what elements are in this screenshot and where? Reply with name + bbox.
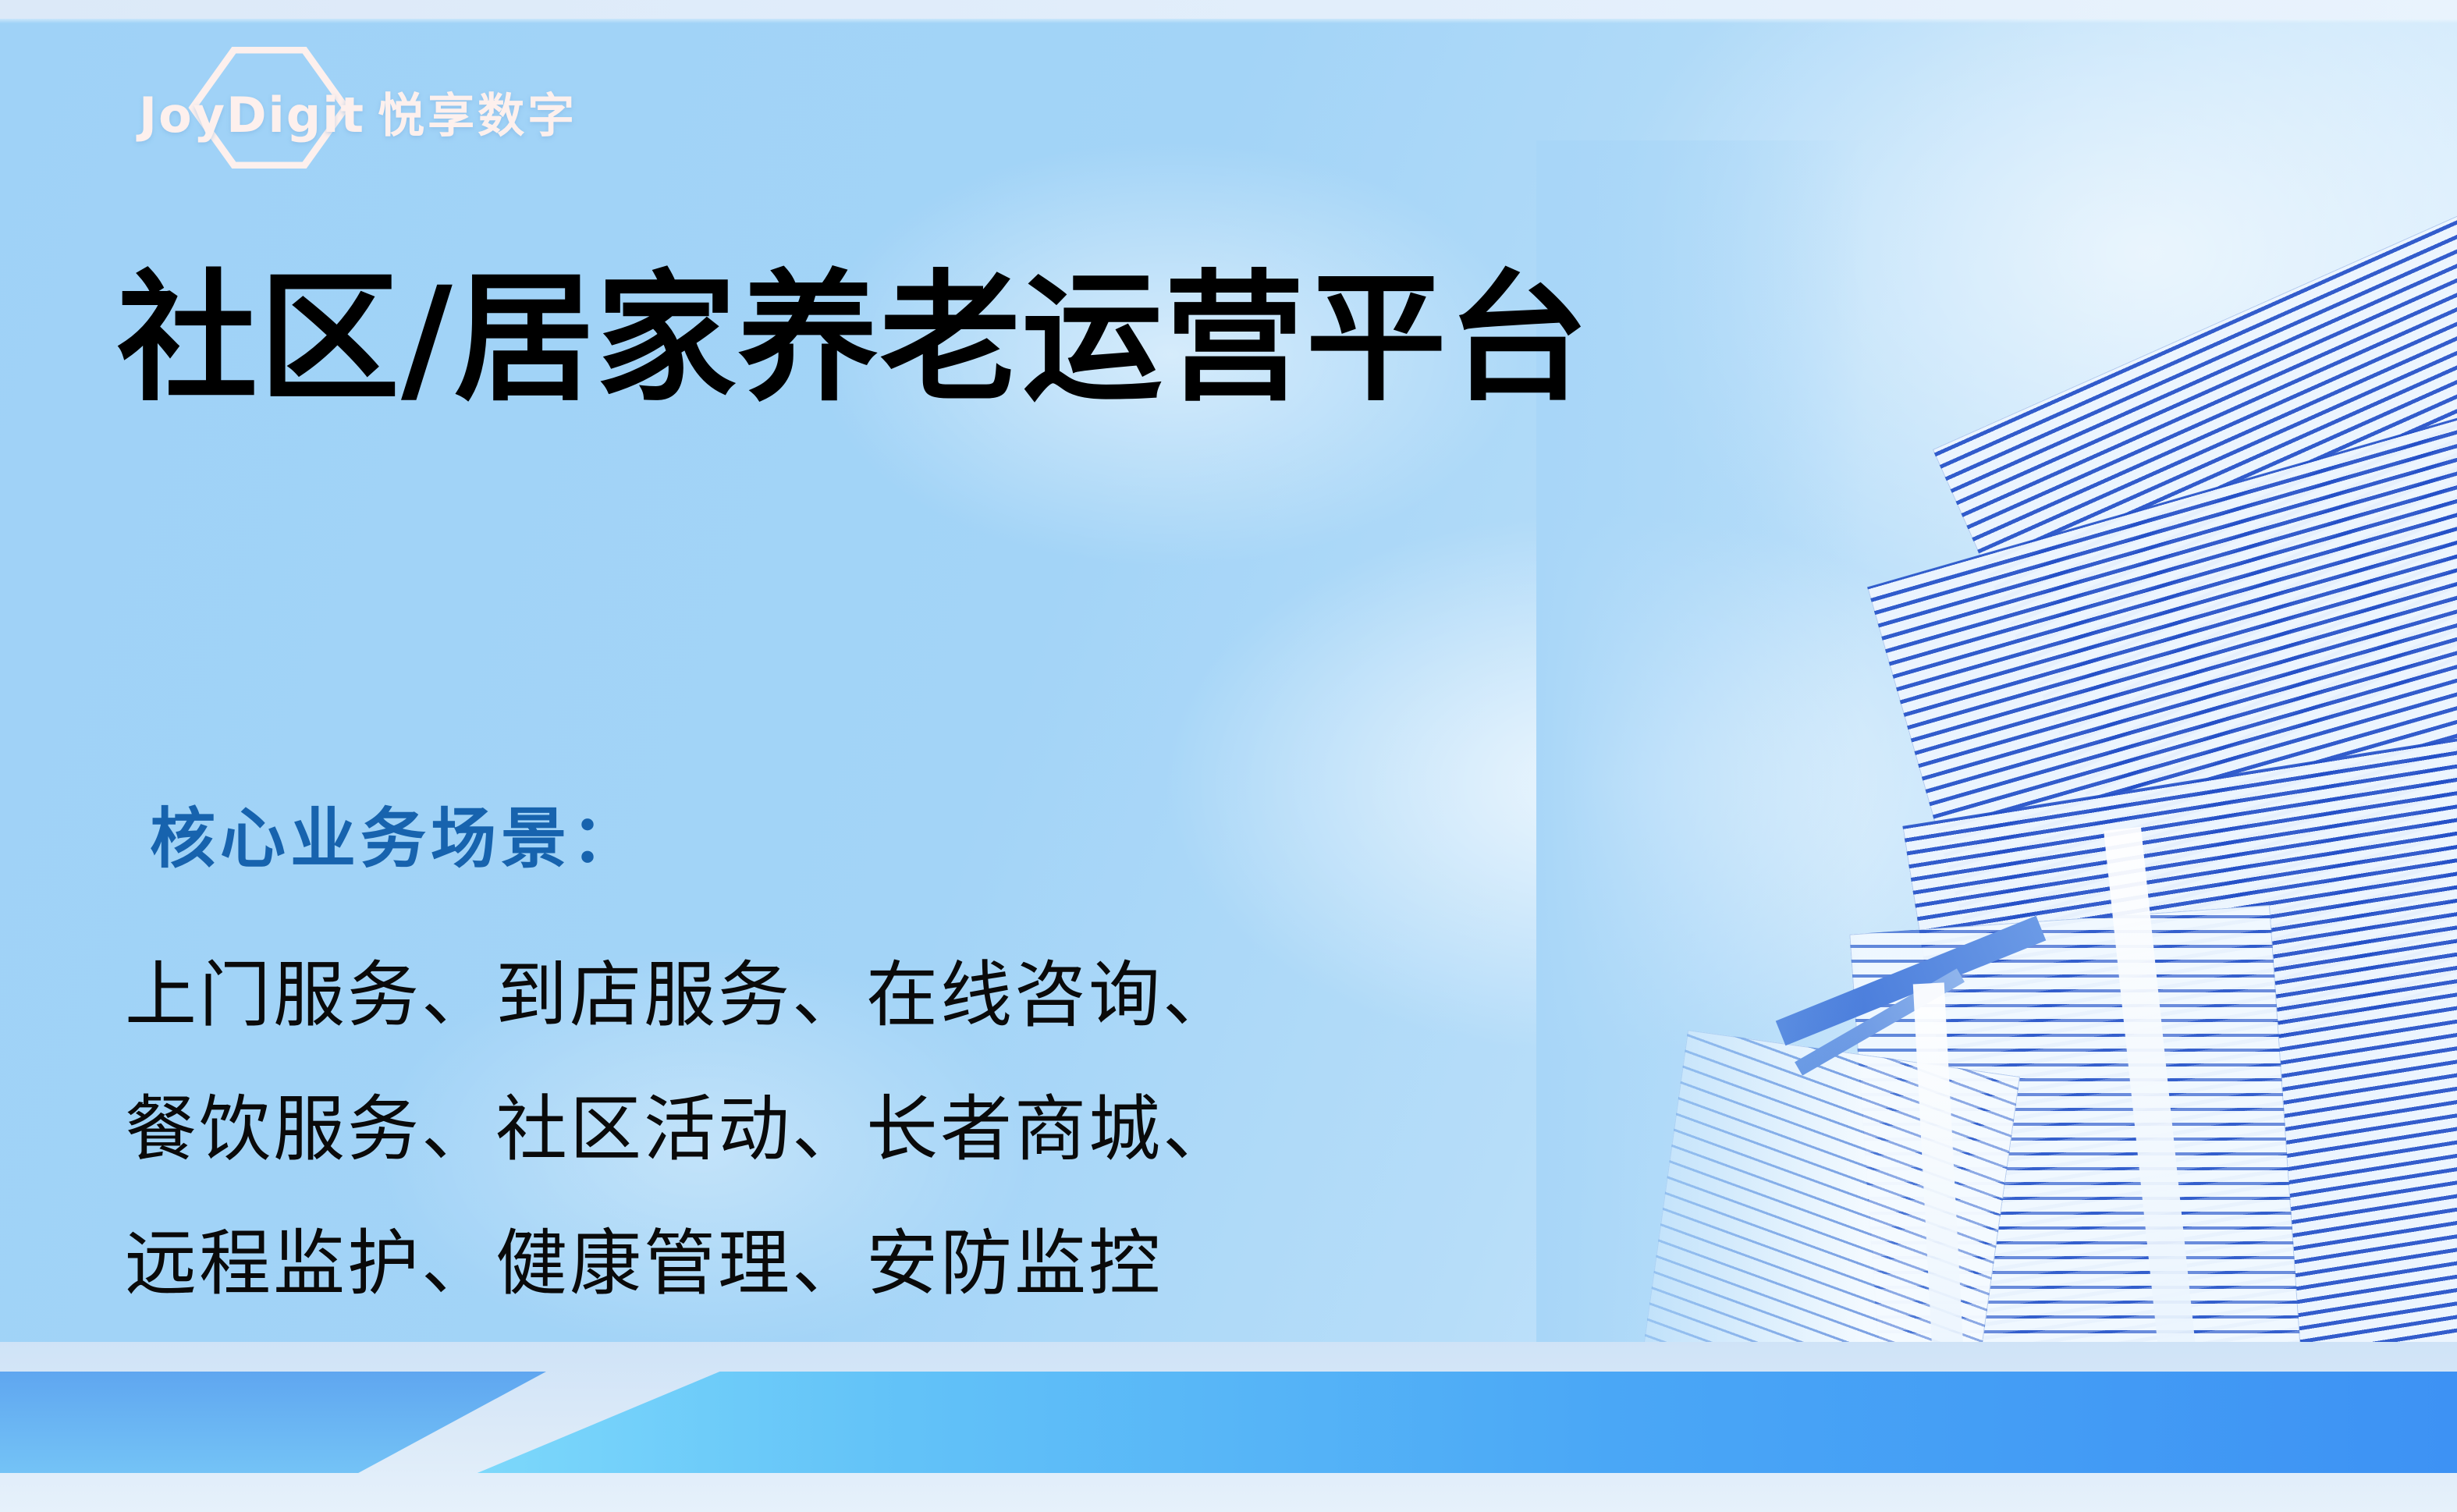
scenario-line: 远程监护、健康管理、安防监控 [125, 1197, 1237, 1331]
brand-wordmark-latin: JoyDigit [139, 87, 365, 144]
top-edge-highlight [0, 19, 2457, 23]
scenario-line: 餐饮服务、社区活动、长者商城、 [125, 1063, 1237, 1197]
skyscraper-photo [1536, 140, 2457, 1358]
brand-wordmark-chinese: 悦享数字 [365, 89, 577, 144]
slide-root: JoyDigit悦享数字 社区/居家养老运营平台 核心业务场景： 上门服务、到店… [0, 0, 2457, 1512]
bottom-ribbon [0, 1342, 2457, 1512]
top-strip [0, 0, 2457, 20]
brand-logo: JoyDigit悦享数字 [139, 45, 467, 170]
section-heading: 核心业务场景： [150, 786, 641, 881]
scenario-line: 上门服务、到店服务、在线咨询、 [125, 928, 1237, 1063]
brand-wordmark: JoyDigit悦享数字 [139, 78, 577, 146]
ribbon-shape-right [437, 1372, 2457, 1473]
scenario-list: 上门服务、到店服务、在线咨询、 餐饮服务、社区活动、长者商城、 远程监护、健康管… [125, 928, 1237, 1331]
page-title: 社区/居家养老运营平台 [117, 265, 1590, 413]
